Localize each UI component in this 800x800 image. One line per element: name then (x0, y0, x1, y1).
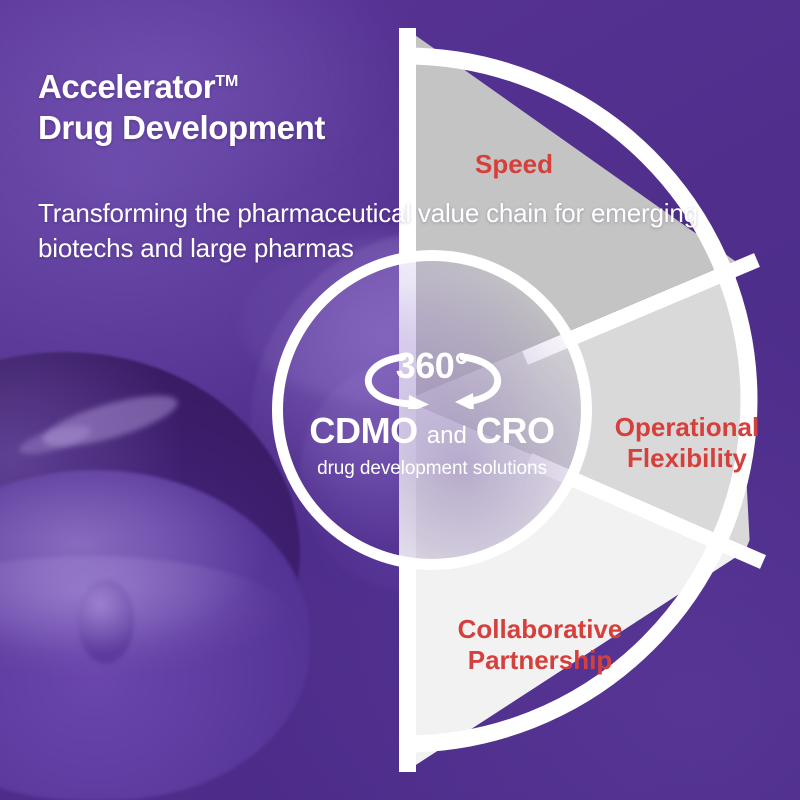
badge-main-line: CDMOandCRO (309, 411, 554, 456)
badge-360-group: 360° (357, 347, 507, 409)
page-title-accelerator: Accelerator (38, 68, 215, 105)
badge-tagline: drug development solutions (317, 457, 547, 481)
infographic-canvas: Speed Operational Flexibility Collaborat… (0, 0, 800, 800)
segment-label-collaborative-partnership: Collaborative Partnership (428, 614, 652, 676)
badge-and: and (418, 422, 476, 449)
badge-cro: CRO (476, 410, 555, 451)
center-circle-content: 360° CDMOandCRO drug development solutio… (272, 250, 592, 570)
segment-label-speed: Speed (430, 149, 598, 180)
badge-360-degrees: 360° (357, 346, 507, 386)
page-title-line-1: AcceleratorTM (38, 66, 325, 107)
center-circle-badge: 360° CDMOandCRO drug development solutio… (272, 250, 592, 570)
background-droplet (78, 580, 134, 664)
trademark-symbol: TM (215, 73, 238, 90)
page-title: AcceleratorTM Drug Development (38, 66, 325, 148)
badge-cdmo: CDMO (309, 410, 417, 451)
segment-label-operational-flexibility: Operational Flexibility (592, 412, 782, 474)
page-title-line-2: Drug Development (38, 107, 325, 148)
page-subtitle: Transforming the pharmaceutical value ch… (38, 196, 800, 266)
